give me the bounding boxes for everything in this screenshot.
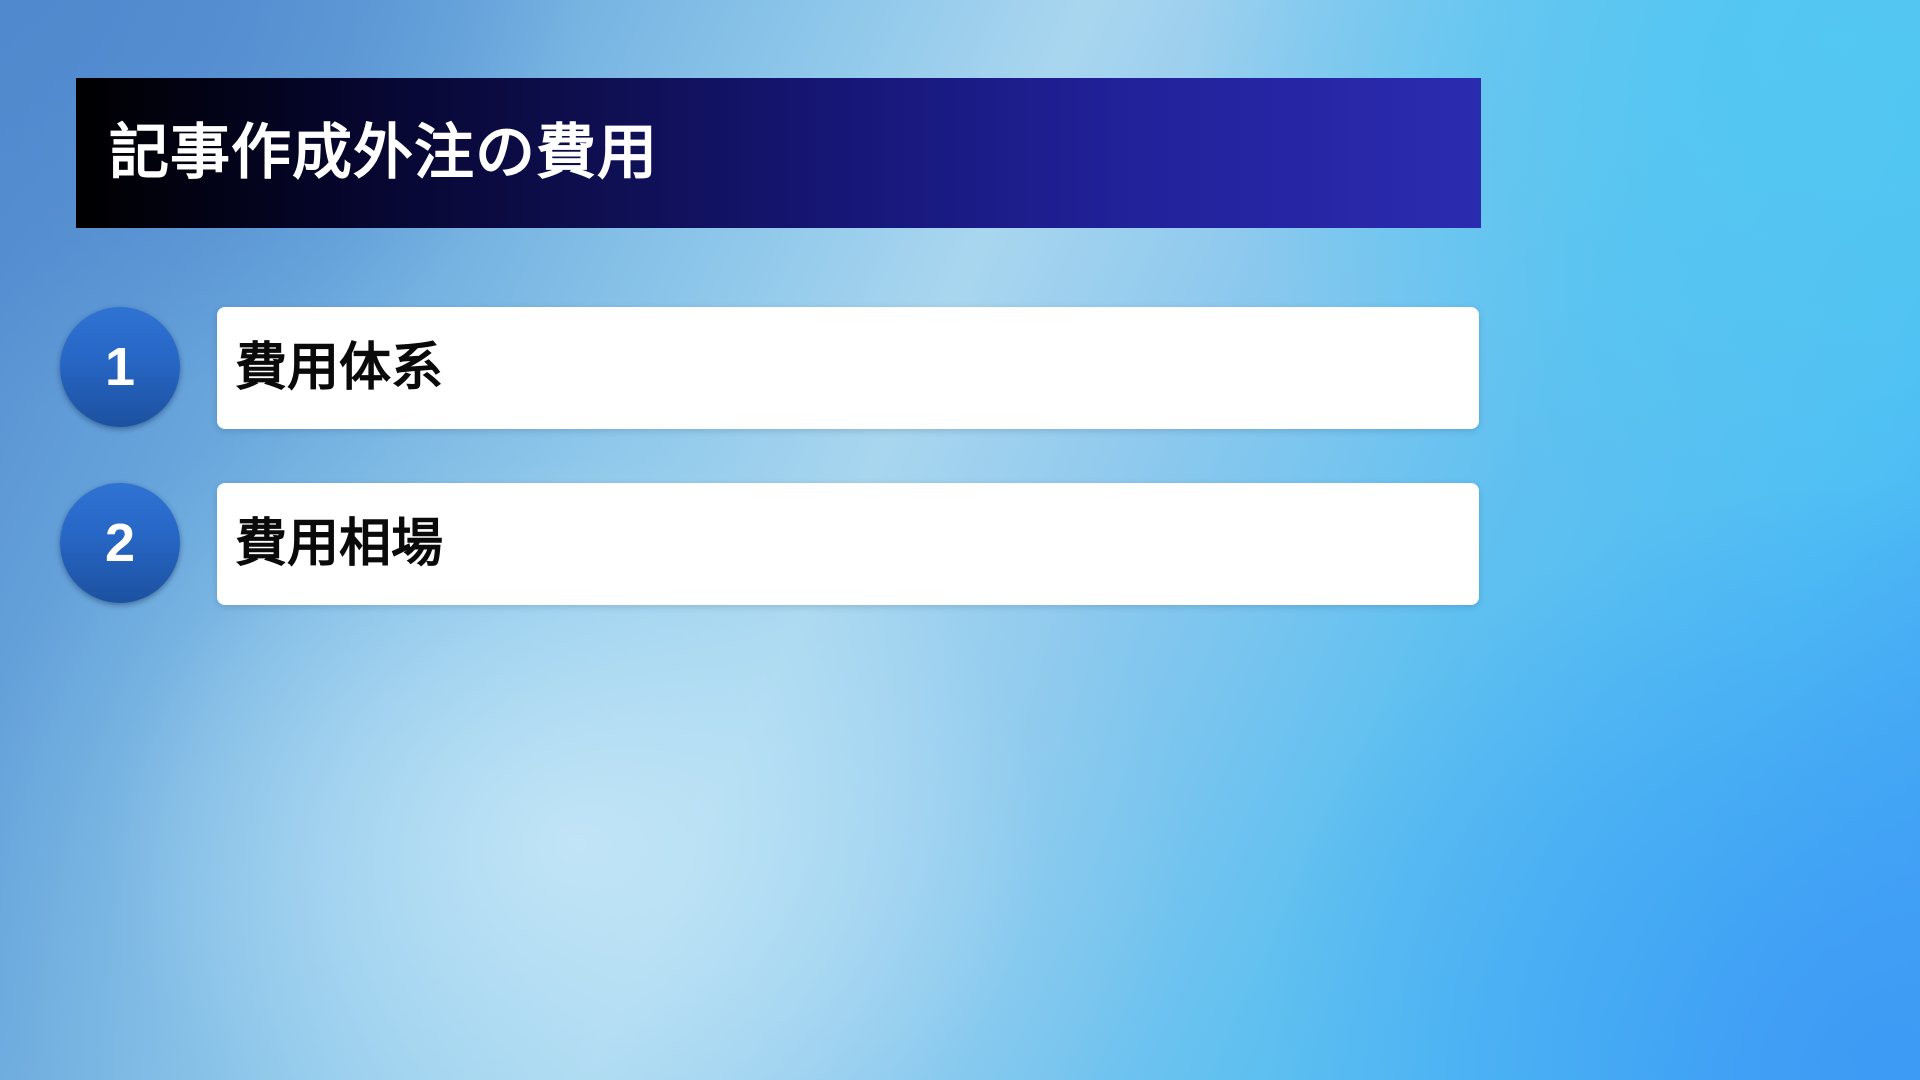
list-item[interactable]: 2 費用相場 xyxy=(0,483,1920,605)
item-card[interactable]: 費用相場 xyxy=(217,483,1479,605)
list-item[interactable]: 1 費用体系 xyxy=(0,307,1920,429)
item-card-label: 費用相場 xyxy=(235,518,443,570)
item-card-label: 費用体系 xyxy=(235,342,443,394)
presentation-slide: 記事作成外注の費用 1 費用体系 2 費用相場 xyxy=(0,0,1920,1080)
item-card[interactable]: 費用体系 xyxy=(217,307,1479,429)
page-title: 記事作成外注の費用 xyxy=(109,123,658,183)
slide-title-bar: 記事作成外注の費用 xyxy=(76,78,1481,228)
item-number-badge: 1 xyxy=(60,307,180,427)
agenda-list: 1 費用体系 2 費用相場 xyxy=(0,307,1920,659)
item-number-badge: 2 xyxy=(60,483,180,603)
item-number-label: 2 xyxy=(105,516,135,570)
item-number-label: 1 xyxy=(105,340,135,394)
